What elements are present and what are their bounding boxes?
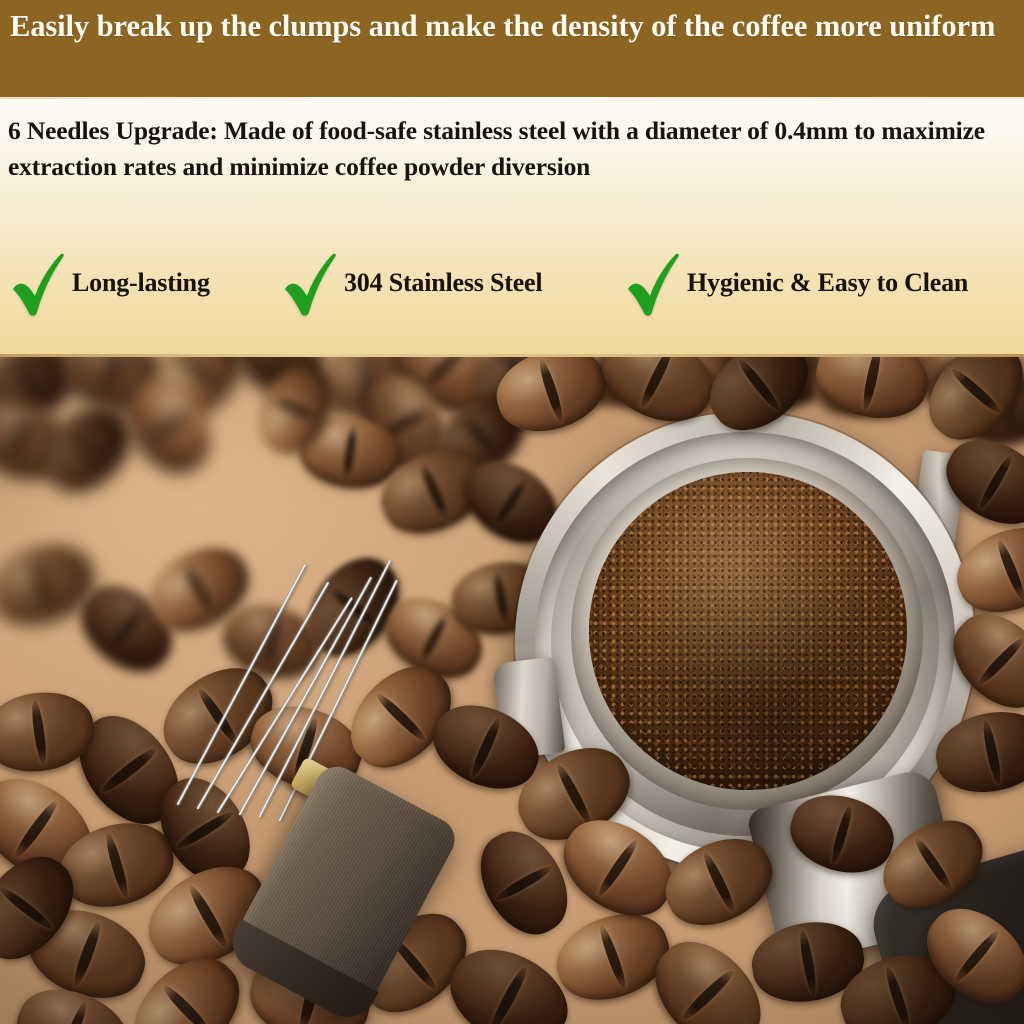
product-feature-image: Easily break up the clumps and make the …: [0, 0, 1024, 1024]
feature-label: 304 Stainless Steel: [344, 268, 542, 302]
description-text: 6 Needles Upgrade: Made of food-safe sta…: [8, 113, 1020, 185]
feature-item-hygienic-easy-to-clean: Hygienic & Easy to Clean: [625, 245, 968, 325]
feature-label: Long-lasting: [72, 268, 210, 302]
info-panel: 6 Needles Upgrade: Made of food-safe sta…: [0, 97, 1024, 357]
green-check-icon: [10, 251, 66, 319]
portafilter-basket: [571, 458, 923, 810]
product-photo: [0, 357, 1024, 1024]
panel-divider: [0, 97, 1024, 99]
feature-list: Long-lasting 304 Stainless Steel Hygieni…: [0, 245, 1024, 325]
ground-coffee: [589, 472, 907, 790]
headline-band: Easily break up the clumps and make the …: [0, 0, 1024, 97]
feature-label: Hygienic & Easy to Clean: [687, 268, 968, 302]
green-check-icon: [625, 251, 681, 319]
green-check-icon: [282, 251, 338, 319]
headline-text: Easily break up the clumps and make the …: [10, 5, 1024, 48]
feature-item-long-lasting: Long-lasting: [10, 245, 210, 325]
feature-item-304-stainless-steel: 304 Stainless Steel: [282, 245, 542, 325]
